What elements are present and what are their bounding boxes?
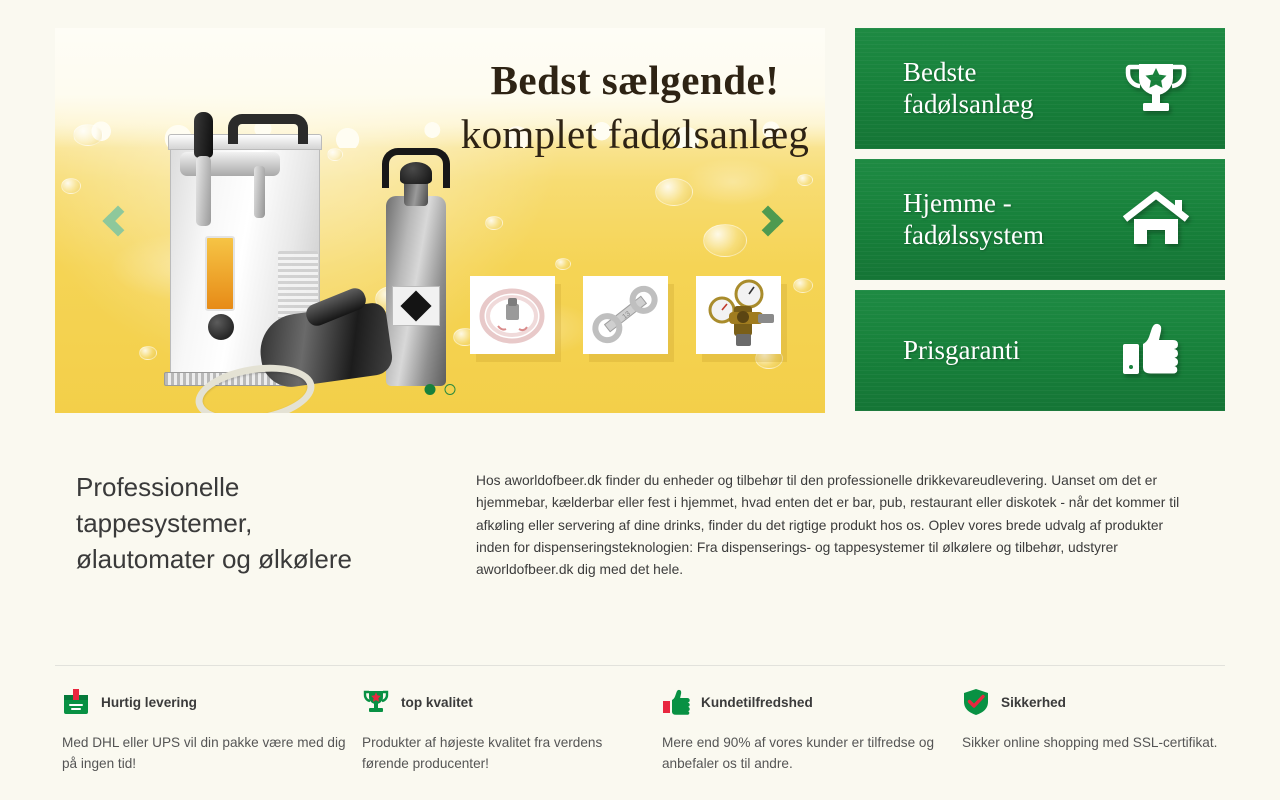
carousel-pagination (425, 384, 456, 395)
promo-banner-prisgaranti[interactable]: Prisgaranti (855, 290, 1225, 411)
thumbs-up-icon (1121, 320, 1191, 382)
feature-description: Produkter af højeste kvalitet fra verden… (362, 732, 647, 774)
feature-description: Sikker online shopping med SSL-certifika… (962, 732, 1247, 753)
page-root: Bedst sælgende! komplet fadølsanlæg (0, 0, 1280, 800)
co2-regulator-thumbnail[interactable] (696, 276, 781, 354)
house-icon (1121, 189, 1191, 251)
trophy-icon (1121, 58, 1191, 120)
slide-headline-line2: komplet fadølsanlæg (450, 112, 820, 156)
trophy-star-icon (362, 688, 390, 716)
intro-section: Professionelle tappesystemer, ølautomate… (76, 470, 1206, 582)
thumbs-up-icon (662, 688, 690, 716)
feature-description: Med DHL eller UPS vil din pakke være med… (62, 732, 347, 774)
hero-carousel[interactable]: Bedst sælgende! komplet fadølsanlæg (55, 28, 825, 413)
promo-banner-hjemme-fadolssystem[interactable]: Hjemme - fadølssystem (855, 159, 1225, 280)
hero-section: Bedst sælgende! komplet fadølsanlæg (55, 28, 1225, 413)
spanner-wrench-thumbnail[interactable]: 13 (583, 276, 668, 354)
carousel-product-thumbnails: 13 (470, 276, 781, 354)
feature-hurtig-levering: Hurtig levering Med DHL eller UPS vil di… (62, 686, 347, 774)
feature-description: Mere end 90% af vores kunder er tilfreds… (662, 732, 947, 774)
promo-banner-bedste-fadolsanlaeg[interactable]: Bedste fadølsanlæg (855, 28, 1225, 149)
feature-sikkerhed: Sikkerhed Sikker online shopping med SSL… (962, 686, 1247, 774)
section-divider (55, 665, 1225, 666)
promo-banner-label: Bedste fadølsanlæg (903, 57, 1033, 121)
feature-top-kvalitet: top kvalitet Produkter af højeste kvalit… (362, 686, 647, 774)
chevron-left-icon (102, 205, 133, 236)
feature-title: top kvalitet (401, 695, 473, 710)
chevron-right-icon (752, 205, 783, 236)
intro-paragraph: Hos aworldofbeer.dk finder du enheder og… (476, 470, 1192, 582)
slide-headline-line1: Bedst sælgende! (450, 58, 820, 102)
carousel-prev-button[interactable]: Forrige (95, 198, 141, 244)
shield-check-icon (962, 688, 990, 716)
feature-title: Sikkerhed (1001, 695, 1066, 710)
carousel-dot-2[interactable] (445, 384, 456, 395)
feature-title: Hurtig levering (101, 695, 197, 710)
feature-title: Kundetilfredshed (701, 695, 813, 710)
promo-banner-label: Prisgaranti (903, 335, 1020, 367)
promo-banner-label: Hjemme - fadølssystem (903, 188, 1044, 252)
feature-list: Hurtig levering Med DHL eller UPS vil di… (62, 686, 1227, 774)
promo-banner-list: Bedste fadølsanlæg Hjemme - fadølssystem (855, 28, 1225, 413)
feature-kundetilfredshed: Kundetilfredshed Mere end 90% af vores k… (662, 686, 947, 774)
carousel-slide-headline: Bedst sælgende! komplet fadølsanlæg (450, 58, 820, 157)
carousel-next-button[interactable]: Næste (745, 198, 791, 244)
package-box-icon (62, 688, 90, 716)
beer-hose-coupling-thumbnail[interactable] (470, 276, 555, 354)
page-title: Professionelle tappesystemer, ølautomate… (76, 470, 476, 582)
carousel-dot-1[interactable] (425, 384, 436, 395)
